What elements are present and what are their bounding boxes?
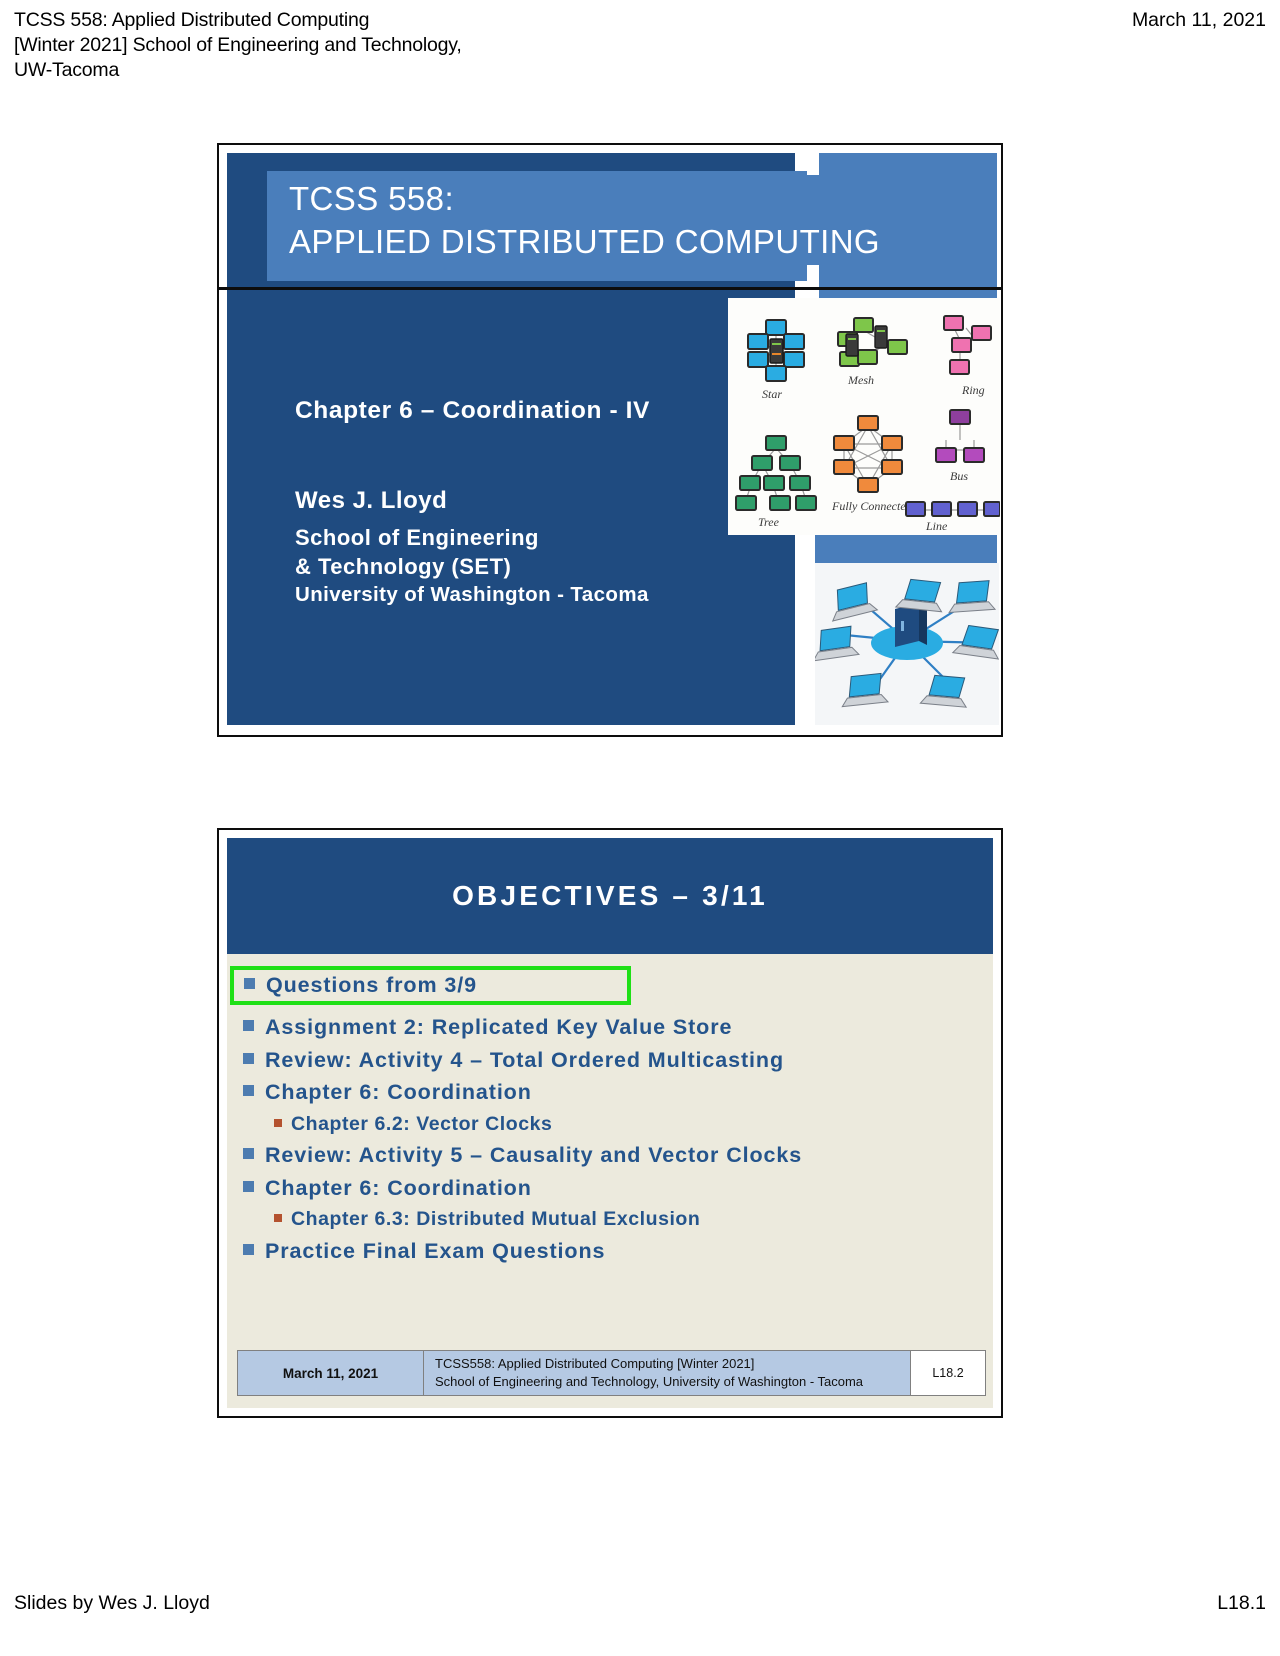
slide-footer-bar: March 11, 2021 TCSS558: Applied Distribu… xyxy=(237,1350,986,1396)
page-header-date: March 11, 2021 xyxy=(1132,8,1266,33)
objective-label: Assignment 2: Replicated Key Value Store xyxy=(265,1015,732,1040)
slide-footer-date: March 11, 2021 xyxy=(237,1350,424,1396)
slide-title-inner: TCSS 558:APPLIED DISTRIBUTED COMPUTING C… xyxy=(227,153,993,727)
network-topologies-diagram: Star Mesh xyxy=(728,298,1000,535)
course-code-line: TCSS 558: xyxy=(289,180,454,217)
bullet-square-icon xyxy=(244,978,255,989)
sub-bullet-square-icon xyxy=(274,1214,282,1222)
course-name-line: APPLIED DISTRIBUTED COMPUTING xyxy=(289,223,880,260)
objective-item-chapter6-coordination-b: Chapter 6: Coordination xyxy=(243,1176,977,1201)
slide-footer-number: L18.2 xyxy=(911,1350,986,1396)
slide-footer-course-line2: School of Engineering and Technology, Un… xyxy=(435,1373,910,1391)
objective-label: Practice Final Exam Questions xyxy=(265,1239,605,1264)
bullet-square-icon xyxy=(243,1181,254,1192)
slide-title-banner: TCSS 558:APPLIED DISTRIBUTED COMPUTING xyxy=(267,171,997,281)
svg-text:Fully Connected: Fully Connected xyxy=(831,499,913,513)
slide-footer-course-line1: TCSS558: Applied Distributed Computing [… xyxy=(435,1355,910,1373)
bullet-square-icon xyxy=(243,1020,254,1031)
chapter-label: Chapter 6 – Coordination - IV xyxy=(295,397,765,425)
slide-title-page: TCSS 558:APPLIED DISTRIBUTED COMPUTING C… xyxy=(217,143,1003,737)
client-server-laptops-diagram xyxy=(815,563,999,725)
objective-subitem-chapter63: Chapter 6.3: Distributed Mutual Exclusio… xyxy=(274,1208,977,1231)
svg-text:Mesh: Mesh xyxy=(847,373,874,387)
slide-title-heading: TCSS 558:APPLIED DISTRIBUTED COMPUTING xyxy=(267,171,997,263)
bullet-square-icon xyxy=(243,1085,254,1096)
title-divider-rule xyxy=(219,287,1003,290)
title-notch-top xyxy=(807,153,819,175)
author-name: Wes J. Lloyd xyxy=(295,487,765,515)
objective-label: Chapter 6: Coordination xyxy=(265,1080,532,1105)
svg-text:Bus: Bus xyxy=(950,469,968,483)
objective-label: Chapter 6.3: Distributed Mutual Exclusio… xyxy=(291,1208,700,1231)
objective-item-assignment2: Assignment 2: Replicated Key Value Store xyxy=(243,1015,977,1040)
bullet-square-icon xyxy=(243,1244,254,1255)
page-footer: Slides by Wes J. Lloyd L18.1 xyxy=(0,1592,1280,1622)
slide-objectives-inner: OBJECTIVES – 3/11 Questions from 3/9 Ass… xyxy=(227,838,993,1408)
objective-label: Chapter 6: Coordination xyxy=(265,1176,532,1201)
objective-item-review-activity5: Review: Activity 5 – Causality and Vecto… xyxy=(243,1143,977,1168)
objective-label: Review: Activity 5 – Causality and Vecto… xyxy=(265,1143,802,1168)
objective-item-questions: Questions from 3/9 xyxy=(230,966,631,1005)
page-header: TCSS 558: Applied Distributed Computing … xyxy=(0,8,1280,84)
objective-item-practice-final: Practice Final Exam Questions xyxy=(243,1239,977,1264)
bullet-square-icon xyxy=(243,1053,254,1064)
page-footer-credit: Slides by Wes J. Lloyd xyxy=(14,1592,210,1615)
slide-footer-course: TCSS558: Applied Distributed Computing [… xyxy=(424,1350,911,1396)
author-university: University of Washington - Tacoma xyxy=(295,583,765,607)
svg-text:Line: Line xyxy=(925,519,948,533)
slide-objectives-header: OBJECTIVES – 3/11 xyxy=(227,838,993,954)
objective-subitem-chapter62: Chapter 6.2: Vector Clocks xyxy=(274,1113,977,1136)
slide-objectives-page: OBJECTIVES – 3/11 Questions from 3/9 Ass… xyxy=(217,828,1003,1418)
objective-item-chapter6-coordination-a: Chapter 6: Coordination xyxy=(243,1080,977,1105)
svg-text:Ring: Ring xyxy=(961,383,985,397)
svg-text:Star: Star xyxy=(762,387,782,401)
objective-label: Questions from 3/9 xyxy=(266,973,477,998)
objective-label: Review: Activity 4 – Total Ordered Multi… xyxy=(265,1048,784,1073)
page-footer-lecture-number: L18.1 xyxy=(1217,1592,1266,1615)
bullet-square-icon xyxy=(243,1148,254,1159)
objective-item-review-activity4: Review: Activity 4 – Total Ordered Multi… xyxy=(243,1048,977,1073)
svg-text:Tree: Tree xyxy=(758,515,780,529)
sub-bullet-square-icon xyxy=(274,1119,282,1127)
slide-title-text-block: Chapter 6 – Coordination - IV Wes J. Llo… xyxy=(295,397,765,607)
page-header-course-info: TCSS 558: Applied Distributed Computing … xyxy=(14,8,462,83)
objectives-list: Questions from 3/9 Assignment 2: Replica… xyxy=(243,966,977,1271)
author-affiliation: School of Engineering & Technology (SET) xyxy=(295,523,765,581)
objective-label: Chapter 6.2: Vector Clocks xyxy=(291,1113,552,1136)
slide-objectives-title: OBJECTIVES – 3/11 xyxy=(452,880,768,912)
